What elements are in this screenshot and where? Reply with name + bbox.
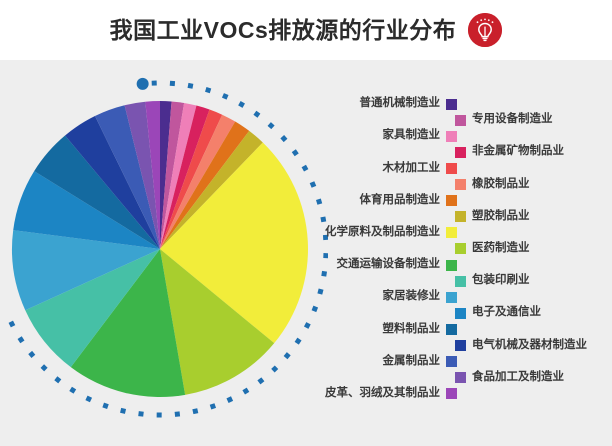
arc-dot xyxy=(188,83,194,89)
legend-item[interactable]: 家具制造业 xyxy=(383,128,458,144)
legend-item-label: 普通机械制造业 xyxy=(360,98,441,110)
arc-dot xyxy=(28,351,35,358)
arc-dot xyxy=(271,365,278,372)
arc-dot xyxy=(284,352,291,359)
legend-color-swatch xyxy=(455,179,466,190)
legend-color-swatch xyxy=(446,163,457,174)
legend-color-swatch xyxy=(455,308,466,319)
legend-color-swatch xyxy=(455,211,466,222)
arc-start-dot-icon xyxy=(137,78,149,90)
arc-dot xyxy=(205,87,211,93)
legend-color-swatch xyxy=(446,324,457,335)
legend-item[interactable]: 塑胶制品业 xyxy=(455,209,530,225)
legend-item-label: 医药制造业 xyxy=(472,243,530,255)
pie-chart xyxy=(8,74,328,434)
arc-dot xyxy=(85,396,92,403)
header-inner: 我国工业VOCs排放源的行业分布 xyxy=(0,0,612,60)
arc-dot xyxy=(295,338,302,345)
legend-item[interactable]: 塑料制品业 xyxy=(383,321,458,337)
legend-item[interactable]: 电气机械及器材制造业 xyxy=(455,337,587,353)
legend-item[interactable]: 医药制造业 xyxy=(455,241,530,257)
arc-dot xyxy=(54,376,61,383)
arc-dot xyxy=(302,165,309,172)
legend-color-swatch xyxy=(446,260,457,271)
arc-dot xyxy=(120,408,126,414)
arc-dot xyxy=(9,321,16,328)
legend-item[interactable]: 交通运输设备制造业 xyxy=(337,257,458,273)
legend-item[interactable]: 普通机械制造业 xyxy=(360,96,458,112)
arc-dot xyxy=(210,403,216,409)
arc-dot xyxy=(268,122,275,129)
legend-item[interactable]: 专用设备制造业 xyxy=(455,112,553,128)
page-title: 我国工业VOCs排放源的行业分布 xyxy=(110,19,457,42)
legend-item[interactable]: 食品加工及制造业 xyxy=(455,370,564,386)
legend-item-label: 化学原料及制品制造业 xyxy=(325,227,440,239)
legend-item-label: 专用设备制造业 xyxy=(472,114,553,126)
arc-dot xyxy=(253,111,260,118)
legend-color-swatch xyxy=(455,372,466,383)
legend-item[interactable]: 家居装修业 xyxy=(383,289,458,305)
legend-item-label: 皮革、羽绒及其制品业 xyxy=(325,388,440,400)
arc-dot xyxy=(102,403,108,409)
legend-item-label: 金属制品业 xyxy=(383,356,441,368)
legend-color-swatch xyxy=(446,99,457,110)
arc-dot xyxy=(41,364,48,371)
legend-item-label: 木材加工业 xyxy=(383,163,441,175)
legend: 普通机械制造业家具制造业木材加工业体育用品制造业化学原料及制品制造业交通运输设备… xyxy=(310,60,612,446)
arc-dot xyxy=(192,408,198,414)
legend-color-swatch xyxy=(446,388,457,399)
arc-dot xyxy=(280,135,287,142)
header-bar: 我国工业VOCs排放源的行业分布 xyxy=(0,0,612,60)
legend-item[interactable]: 电子及通信业 xyxy=(455,305,541,321)
legend-item-label: 家具制造业 xyxy=(383,130,441,142)
legend-item[interactable]: 橡胶制品业 xyxy=(455,176,530,192)
legend-item-label: 塑料制品业 xyxy=(383,324,441,336)
legend-item-label: 非金属矿物制品业 xyxy=(472,146,564,158)
legend-item-label: 电气机械及器材制造业 xyxy=(472,340,587,352)
legend-item[interactable]: 非金属矿物制品业 xyxy=(455,144,564,160)
legend-item[interactable]: 木材加工业 xyxy=(383,160,458,176)
arc-dot xyxy=(292,149,299,156)
legend-item[interactable]: 金属制品业 xyxy=(383,354,458,370)
legend-color-swatch xyxy=(446,356,457,367)
legend-item[interactable]: 体育用品制造业 xyxy=(360,193,458,209)
legend-item-label: 交通运输设备制造业 xyxy=(337,259,441,271)
legend-item-label: 电子及通信业 xyxy=(472,307,541,319)
legend-item[interactable]: 包装印刷业 xyxy=(455,273,530,289)
legend-item-label: 塑胶制品业 xyxy=(472,211,530,223)
chart-area: 普通机械制造业家具制造业木材加工业体育用品制造业化学原料及制品制造业交通运输设备… xyxy=(0,60,612,446)
arc-dot xyxy=(138,411,144,417)
legend-color-swatch xyxy=(455,243,466,254)
legend-color-swatch xyxy=(455,340,466,351)
legend-color-swatch xyxy=(446,227,457,238)
legend-color-swatch xyxy=(455,115,466,126)
legend-item[interactable]: 皮革、羽绒及其制品业 xyxy=(325,386,457,402)
arc-dot xyxy=(257,377,264,384)
arc-dot xyxy=(175,411,180,416)
lightbulb-badge-icon xyxy=(468,13,502,47)
legend-color-swatch xyxy=(455,147,466,158)
arc-dot xyxy=(152,81,157,86)
legend-item-label: 体育用品制造业 xyxy=(360,195,441,207)
arc-dot xyxy=(242,388,249,395)
legend-item-label: 橡胶制品业 xyxy=(472,179,530,191)
legend-item-label: 家居装修业 xyxy=(383,291,441,303)
arc-dot xyxy=(222,93,229,100)
slide-canvas: 我国工业VOCs排放源的行业分布 xyxy=(0,0,612,446)
legend-item[interactable]: 化学原料及制品制造业 xyxy=(325,225,457,241)
arc-dot xyxy=(226,396,233,403)
legend-color-swatch xyxy=(446,292,457,303)
legend-color-swatch xyxy=(446,131,457,142)
arc-dot xyxy=(157,412,162,417)
pie-slice-group xyxy=(12,101,308,397)
legend-color-swatch xyxy=(446,195,457,206)
legend-item-label: 包装印刷业 xyxy=(472,275,530,287)
arc-dot xyxy=(238,101,245,108)
arc-dot xyxy=(69,387,76,394)
arc-dot xyxy=(170,81,175,86)
legend-item-label: 食品加工及制造业 xyxy=(472,372,564,384)
arc-dot xyxy=(18,336,25,343)
legend-color-swatch xyxy=(455,276,466,287)
